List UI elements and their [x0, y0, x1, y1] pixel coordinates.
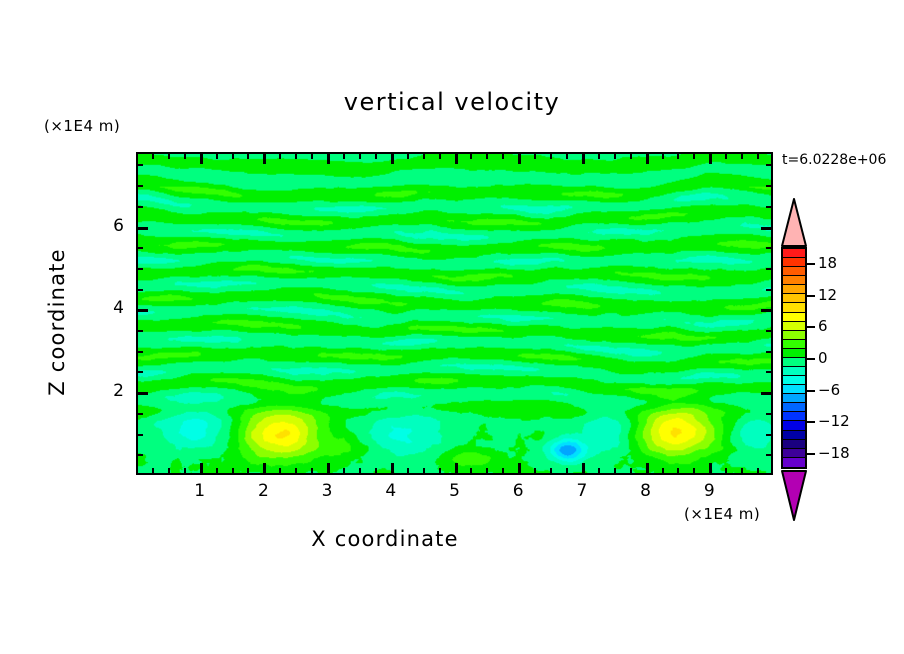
- colorbar-band: [783, 276, 805, 285]
- colorbar-band: [783, 403, 805, 412]
- colorbar-band: [783, 313, 805, 322]
- colorbar-band: [783, 249, 805, 258]
- x-tick-label: 3: [307, 481, 347, 501]
- colorbar-band: [783, 440, 805, 449]
- colorbar-band: [783, 376, 805, 385]
- x-axis-unit-label: (×1E4 m): [684, 505, 760, 523]
- colorbar-label: 18: [818, 254, 837, 272]
- colorbar-label: 12: [818, 286, 837, 304]
- x-axis-title: X coordinate: [0, 527, 770, 551]
- colorbar-band: [783, 340, 805, 349]
- y-axis-unit-label: (×1E4 m): [44, 117, 120, 135]
- x-tick-label: 1: [180, 481, 220, 501]
- colorbar-band: [783, 449, 805, 458]
- colorbar-band: [783, 322, 805, 331]
- colorbar-band: [783, 367, 805, 376]
- colorbar-band: [783, 349, 805, 358]
- colorbar-tick: [807, 421, 815, 423]
- colorbar-band: [783, 358, 805, 367]
- colorbar-band: [783, 267, 805, 276]
- colorbar-tick: [807, 326, 815, 328]
- x-tick-label: 4: [371, 481, 411, 501]
- y-axis-title: Z coordinate: [45, 232, 69, 412]
- colorbar-band: [783, 394, 805, 403]
- chart-title: vertical velocity: [0, 88, 904, 116]
- y-tick-label: 4: [94, 298, 124, 318]
- y-tick-label: 6: [94, 216, 124, 236]
- colorbar-tick: [807, 453, 815, 455]
- colorbar-band: [783, 385, 805, 394]
- colorbar-label: 0: [818, 349, 828, 367]
- colorbar-band: [783, 412, 805, 421]
- velocity-field-canvas: [138, 154, 771, 473]
- colorbar-band: [783, 258, 805, 267]
- x-tick-label: 7: [562, 481, 602, 501]
- x-tick-label: 9: [689, 481, 729, 501]
- x-tick-label: 6: [498, 481, 538, 501]
- colorbar-label: −12: [818, 412, 850, 430]
- colorbar-band: [783, 331, 805, 340]
- x-tick-label: 2: [243, 481, 283, 501]
- contour-plot-area: [136, 152, 773, 475]
- colorbar-label: −6: [818, 381, 840, 399]
- x-tick-label: 8: [626, 481, 666, 501]
- colorbar: [781, 247, 807, 469]
- colorbar-tick: [807, 358, 815, 360]
- x-tick-label: 5: [435, 481, 475, 501]
- colorbar-band: [783, 458, 805, 467]
- timestamp-annotation: t=6.0228e+06: [782, 152, 886, 168]
- colorbar-band: [783, 294, 805, 303]
- colorbar-tick: [807, 263, 815, 265]
- colorbar-band: [783, 303, 805, 312]
- colorbar-over-arrow: [781, 198, 807, 247]
- colorbar-tick: [807, 295, 815, 297]
- colorbar-band: [783, 421, 805, 430]
- colorbar-tick: [807, 390, 815, 392]
- colorbar-label: −18: [818, 444, 850, 462]
- colorbar-band: [783, 285, 805, 294]
- colorbar-band: [783, 431, 805, 440]
- y-tick-label: 2: [94, 381, 124, 401]
- colorbar-under-arrow: [781, 469, 807, 521]
- colorbar-label: 6: [818, 317, 828, 335]
